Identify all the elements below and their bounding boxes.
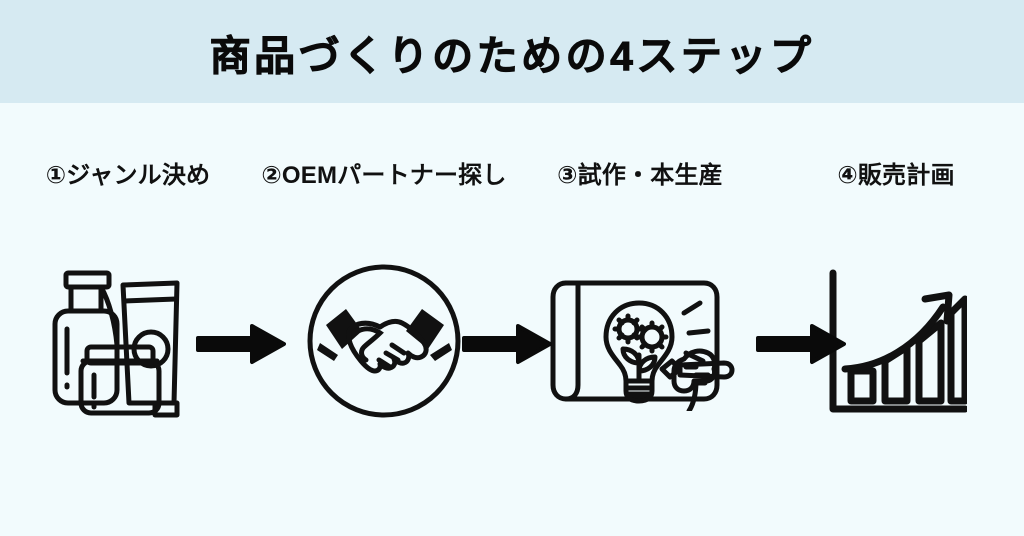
arrow-step3-to-step4 — [756, 321, 846, 367]
step-label-1: ①ジャンル決め — [0, 155, 256, 190]
arrow-step1-to-step2 — [196, 321, 286, 367]
slide-canvas: 商品づくりのための4ステップ ①ジャンル決め — [0, 0, 1024, 536]
step-item-1: ①ジャンル決め — [0, 103, 256, 536]
step-item-2: ②OEMパートナー探し — [256, 103, 512, 536]
arrow-step2-to-step3 — [462, 321, 552, 367]
step-item-3: ③試作・本生産 — [512, 103, 768, 536]
step-label-4: ④販売計画 — [768, 155, 1024, 190]
step-label-2: ②OEMパートナー探し — [256, 155, 512, 190]
steps-container: ①ジャンル決め — [0, 103, 1024, 536]
page-title: 商品づくりのための4ステップ — [0, 0, 1024, 103]
step-item-4: ④販売計画 — [768, 103, 1024, 536]
step-label-3: ③試作・本生産 — [512, 155, 768, 190]
